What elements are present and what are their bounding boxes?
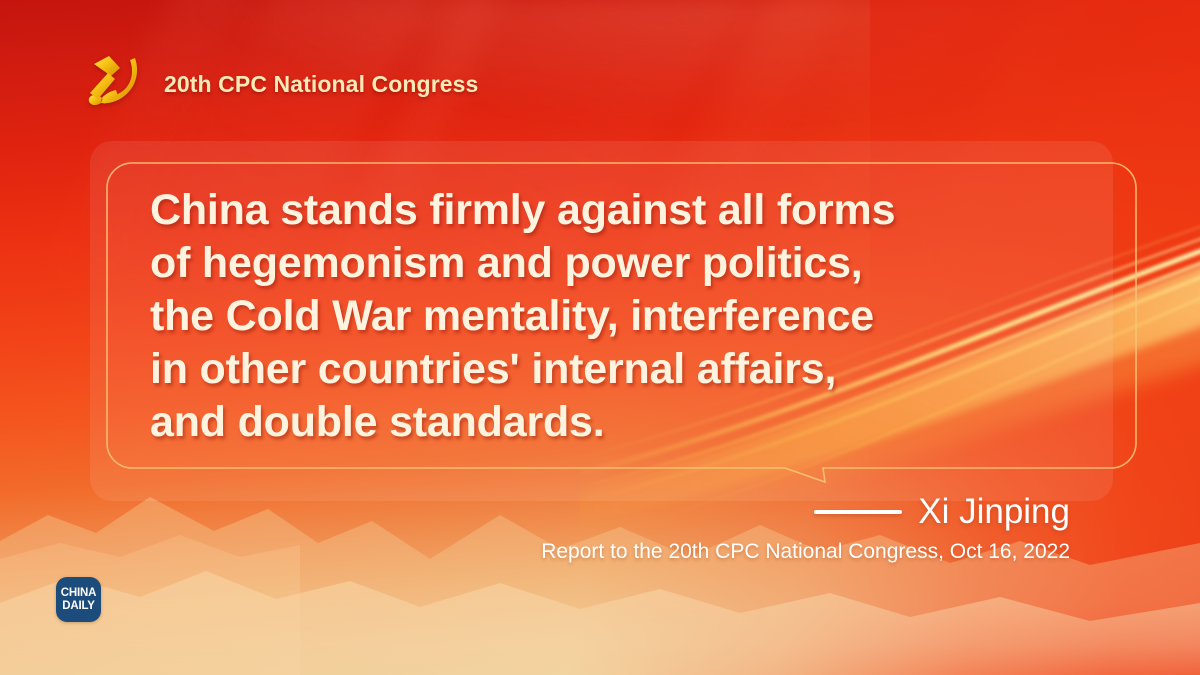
poster-canvas: 20th CPC National Congress China stands … xyxy=(0,0,1200,675)
attribution-name: Xi Jinping xyxy=(918,492,1070,532)
attribution-source: Report to the 20th CPC National Congress… xyxy=(541,540,1070,564)
china-daily-logo-line-2: DAILY xyxy=(61,600,95,612)
cpc-hammer-sickle-icon xyxy=(78,52,150,116)
congress-title: 20th CPC National Congress xyxy=(164,71,478,98)
china-daily-logo[interactable]: CHINA DAILY xyxy=(56,577,101,622)
quote-line: China stands firmly against all forms xyxy=(150,184,1090,237)
quote-line: the Cold War mentality, interference xyxy=(150,290,1090,343)
quote-line: and double standards. xyxy=(150,396,1090,449)
congress-header: 20th CPC National Congress xyxy=(78,52,478,116)
china-daily-logo-line-1: CHINA xyxy=(60,587,97,599)
attribution: Xi Jinping xyxy=(814,492,1070,532)
quote-line: in other countries' internal affairs, xyxy=(150,343,1090,396)
quote-text-block: China stands firmly against all forms of… xyxy=(150,184,1090,449)
attribution-dash-rule xyxy=(814,510,902,514)
quote-line: of hegemonism and power politics, xyxy=(150,237,1090,290)
